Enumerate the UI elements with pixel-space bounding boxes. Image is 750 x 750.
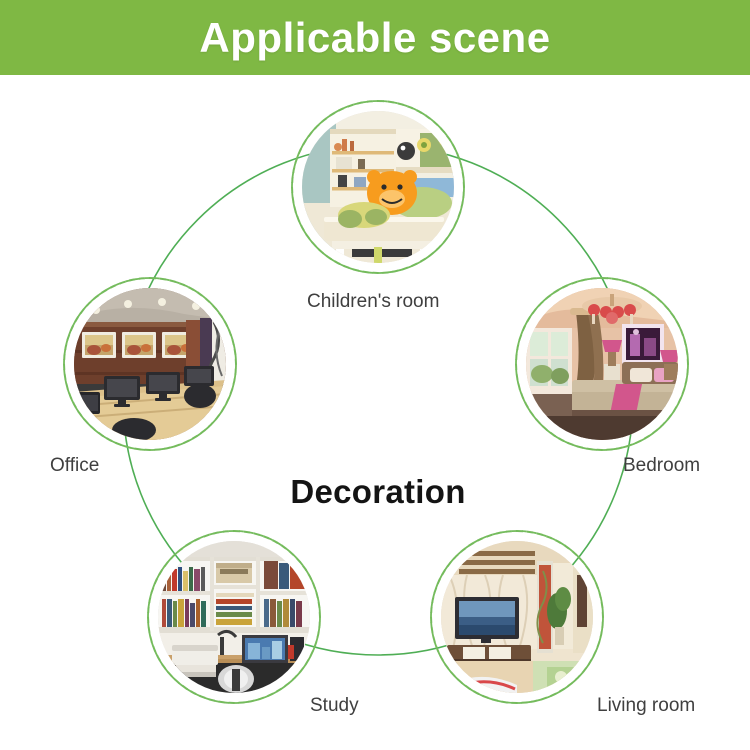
scene-label-children-room: Children's room bbox=[307, 291, 439, 313]
scene-label-bedroom: Bedroom bbox=[623, 455, 700, 477]
scene-node-ring bbox=[515, 277, 689, 451]
scene-node-ring bbox=[291, 100, 465, 274]
scene-label-study: Study bbox=[310, 695, 359, 717]
scene-label-office: Office bbox=[50, 455, 99, 477]
applicable-scene-infographic: Applicable scene bbox=[0, 0, 750, 750]
scene-diagram: Children's room bbox=[0, 75, 750, 750]
scene-node-ring bbox=[430, 530, 604, 704]
scene-node-ring bbox=[63, 277, 237, 451]
diagram-center-label: Decoration bbox=[228, 473, 528, 511]
scene-node-study[interactable] bbox=[147, 530, 321, 704]
scene-node-bedroom[interactable] bbox=[515, 277, 689, 451]
scene-node-children-room[interactable] bbox=[291, 100, 465, 274]
page-title: Applicable scene bbox=[0, 0, 750, 75]
scene-node-office[interactable] bbox=[63, 277, 237, 451]
scene-label-living-room: Living room bbox=[597, 695, 695, 717]
scene-node-living-room[interactable] bbox=[430, 530, 604, 704]
scene-node-ring bbox=[147, 530, 321, 704]
